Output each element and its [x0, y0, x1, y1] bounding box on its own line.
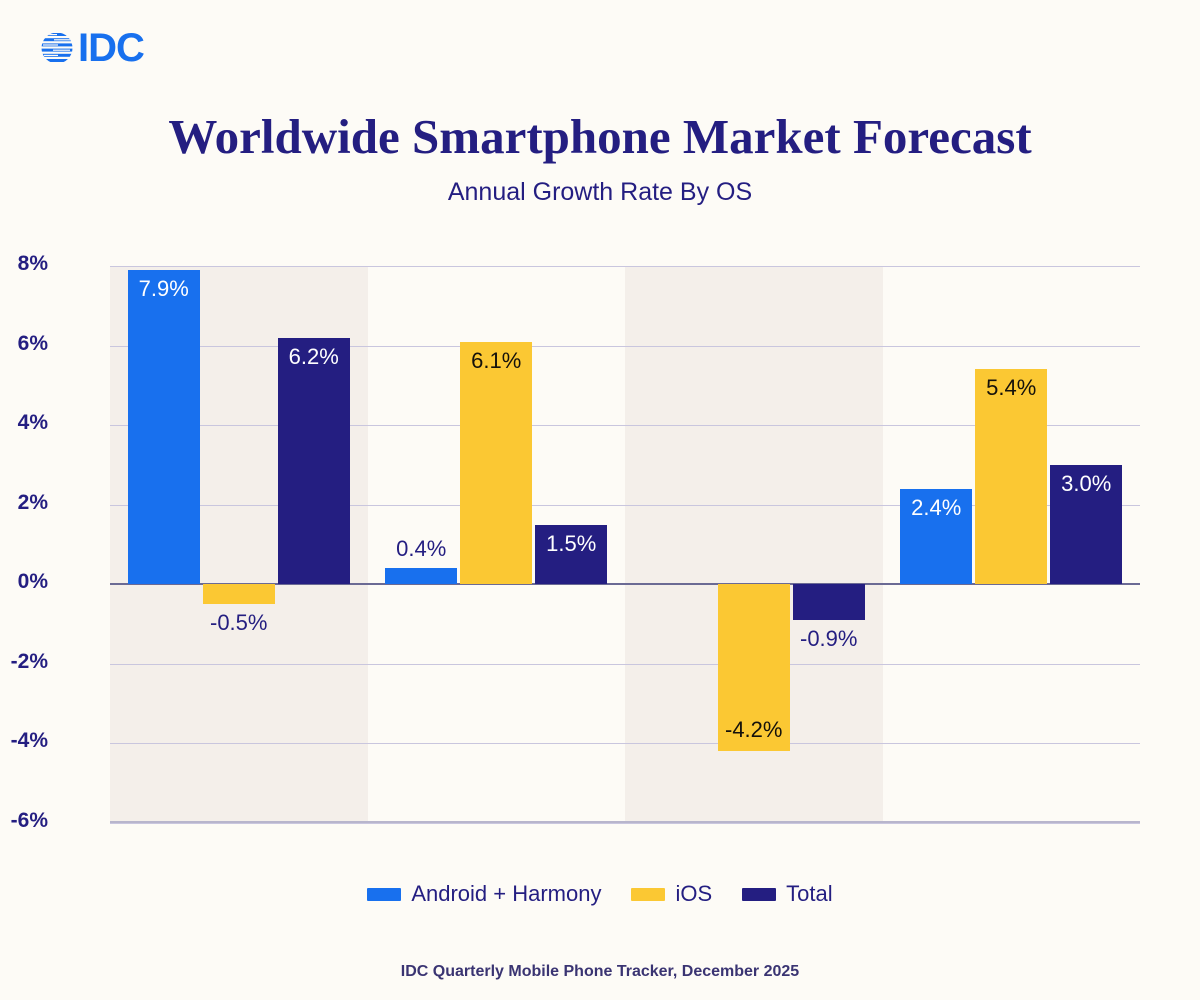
bar-value-label: -0.5%: [183, 610, 295, 636]
y-axis-tick-label: -4%: [0, 729, 48, 753]
gridline: [110, 664, 1140, 665]
y-axis-tick-label: 0%: [0, 570, 48, 594]
gridline: [110, 743, 1140, 744]
legend-item[interactable]: iOS: [631, 881, 712, 907]
y-axis-tick-label: 2%: [0, 491, 48, 515]
legend-swatch: [742, 888, 776, 901]
legend-label: Android + Harmony: [411, 881, 601, 907]
y-axis-tick-label: -6%: [0, 809, 48, 833]
bar-value-label: 5.4%: [955, 375, 1067, 401]
y-axis-tick-label: 6%: [0, 332, 48, 356]
chart-legend: Android + HarmonyiOSTotal: [0, 881, 1200, 907]
bar-value-label: -0.9%: [773, 626, 885, 652]
globe-icon: [40, 31, 74, 65]
bar-value-label: -4.2%: [698, 717, 810, 743]
bar-value-label: 7.9%: [108, 276, 220, 302]
legend-swatch: [631, 888, 665, 901]
legend-item[interactable]: Android + Harmony: [367, 881, 601, 907]
bar-value-label: 6.1%: [440, 348, 552, 374]
logo-text: IDC: [78, 31, 144, 65]
bar[interactable]: [385, 568, 457, 584]
bar[interactable]: [278, 338, 350, 585]
bar-value-label: 1.5%: [515, 531, 627, 557]
bar[interactable]: [128, 270, 200, 584]
y-axis-tick-label: 4%: [0, 411, 48, 435]
gridline: [110, 266, 1140, 267]
source-note: IDC Quarterly Mobile Phone Tracker, Dece…: [0, 963, 1200, 981]
bar[interactable]: [203, 584, 275, 604]
page-subtitle: Annual Growth Rate By OS: [0, 178, 1200, 207]
idc-logo: IDC: [40, 31, 144, 65]
legend-item[interactable]: Total: [742, 881, 832, 907]
bar[interactable]: [793, 584, 865, 620]
legend-swatch: [367, 888, 401, 901]
y-axis-tick-label: -2%: [0, 650, 48, 674]
y-axis-tick-label: 8%: [0, 252, 48, 276]
legend-label: Total: [786, 881, 832, 907]
gridline: [110, 823, 1140, 824]
bar-value-label: 6.2%: [258, 344, 370, 370]
bar-value-label: 3.0%: [1030, 471, 1142, 497]
x-axis-line: [110, 821, 1140, 823]
chart-plot-area: 8%6%4%2%0%-2%-4%-6%20242025202620277.9%0…: [110, 266, 1140, 823]
page-title: Worldwide Smartphone Market Forecast: [0, 108, 1200, 165]
legend-label: iOS: [675, 881, 712, 907]
chart-page: IDC Worldwide Smartphone Market Forecast…: [0, 0, 1200, 1000]
